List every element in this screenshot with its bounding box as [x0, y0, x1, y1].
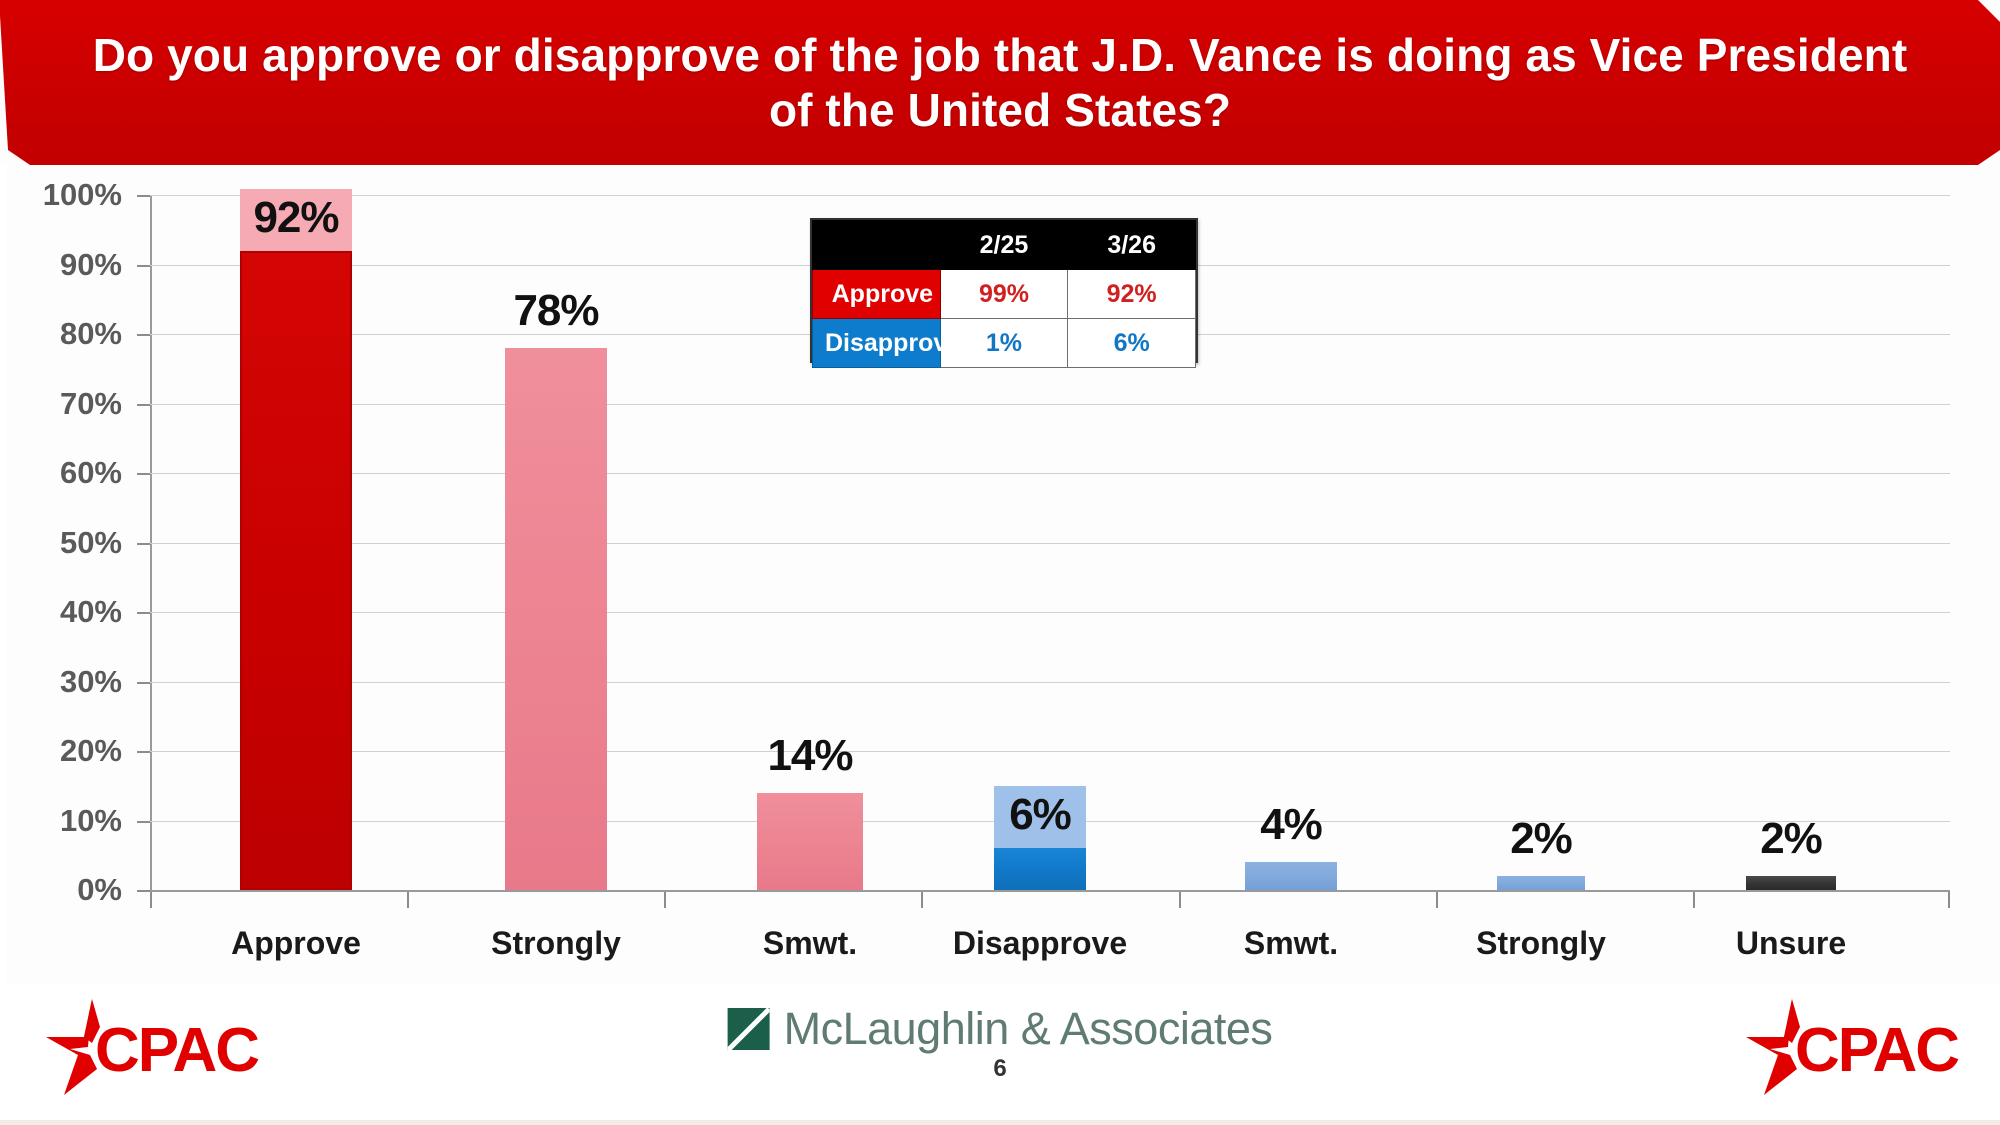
- gridline: [150, 612, 1950, 613]
- y-axis-tick-label: 90%: [60, 247, 122, 283]
- y-axis-tick-label: 10%: [60, 803, 122, 839]
- trend-summary-table: 2/25 3/26 Approve 99% 92% Disapprove 1% …: [810, 218, 1198, 363]
- y-axis-tick-label: 80%: [60, 316, 122, 352]
- gridline: [150, 751, 1950, 752]
- x-axis-tick: [1179, 890, 1181, 908]
- bar-value-label: 92%: [240, 189, 352, 251]
- y-axis-tick: [137, 821, 150, 823]
- gridline: [150, 473, 1950, 474]
- y-axis-tick: [137, 612, 150, 614]
- x-axis-tick: [664, 890, 666, 908]
- bar-disapprove-3: [994, 848, 1086, 890]
- y-axis-tick: [137, 682, 150, 684]
- y-axis-tick-label: 60%: [60, 455, 122, 491]
- mclaughlin-mark-icon: [728, 1008, 770, 1050]
- y-axis-tick: [137, 751, 150, 753]
- table-header-row: 2/25 3/26: [813, 221, 1196, 270]
- table-row-label-disapprove: Disapprove: [813, 319, 941, 368]
- table-col-header-1: 2/25: [940, 221, 1068, 270]
- y-axis-tick-label: 0%: [77, 872, 122, 908]
- bar-value-label: 2%: [1746, 814, 1836, 864]
- cpac-left-label: CPAC: [95, 1015, 258, 1086]
- x-axis-tick: [150, 890, 152, 908]
- y-axis-tick-label: 30%: [60, 664, 122, 700]
- y-axis-tick: [137, 404, 150, 406]
- x-axis-label-3: Disapprove: [953, 925, 1127, 962]
- slide-root: Do you approve or disapprove of the job …: [0, 0, 2000, 1125]
- x-axis-label-2: Smwt.: [763, 925, 857, 962]
- mclaughlin-logo: McLaughlin & Associates: [728, 1003, 1273, 1055]
- y-axis-tick: [137, 473, 150, 475]
- x-axis-tick: [921, 890, 923, 908]
- x-axis-label-5: Strongly: [1476, 925, 1606, 962]
- y-axis-tick: [137, 334, 150, 336]
- gridline: [150, 404, 1950, 405]
- x-axis-line: [150, 890, 1950, 892]
- y-axis-tick: [137, 890, 150, 892]
- title-banner: Do you approve or disapprove of the job …: [0, 0, 2000, 165]
- bar-value-label: 6%: [994, 786, 1086, 848]
- mclaughlin-label: McLaughlin & Associates: [784, 1003, 1273, 1055]
- y-axis-tick-label: 20%: [60, 733, 122, 769]
- table-row: Disapprove 1% 6%: [813, 319, 1196, 368]
- page-number: 6: [993, 1055, 1006, 1083]
- table-cell-disapprove-326: 6%: [1068, 319, 1196, 368]
- gridline: [150, 682, 1950, 683]
- bar-unsure-6: [1746, 876, 1836, 890]
- y-axis-tick: [137, 543, 150, 545]
- x-axis: ApproveStronglySmwt.DisapproveSmwt.Stron…: [150, 890, 1950, 990]
- table-corner-cell: [813, 221, 941, 270]
- bar-value-label: 14%: [757, 731, 863, 781]
- gridline: [150, 195, 1950, 196]
- cpac-logo-right: CPAC: [1740, 995, 1960, 1095]
- x-axis-tick: [1436, 890, 1438, 908]
- x-axis-tick: [1693, 890, 1695, 908]
- bar-strongly-1: [505, 348, 607, 890]
- table-cell-approve-326: 92%: [1068, 270, 1196, 319]
- bar-value-label: 4%: [1245, 800, 1337, 850]
- footer: CPAC McLaughlin & Associates 6 CPAC: [0, 985, 2000, 1125]
- y-axis-labels: 100%90%80%70%60%50%40%30%20%10%0%: [0, 195, 140, 895]
- table-row-label-approve: Approve: [813, 270, 941, 319]
- cpac-right-label: CPAC: [1795, 1015, 1958, 1086]
- bar-smwt-2: [757, 793, 863, 890]
- y-axis-tick-label: 100%: [43, 177, 122, 213]
- gridline: [150, 543, 1950, 544]
- bar-strongly-5: [1497, 876, 1585, 890]
- bar-value-label: 2%: [1497, 814, 1585, 864]
- cpac-logo-left: CPAC: [40, 995, 260, 1095]
- y-axis-tick-label: 50%: [60, 525, 122, 561]
- table-col-header-2: 3/26: [1068, 221, 1196, 270]
- slide-bottom-edge: [0, 1120, 2000, 1125]
- y-axis-tick: [137, 195, 150, 197]
- bar-value-label: 78%: [505, 286, 607, 336]
- x-axis-tick: [407, 890, 409, 908]
- x-axis-tick: [1948, 890, 1950, 908]
- x-axis-label-4: Smwt.: [1244, 925, 1338, 962]
- x-axis-label-6: Unsure: [1736, 925, 1846, 962]
- bar-smwt-4: [1245, 862, 1337, 890]
- y-axis-tick: [137, 265, 150, 267]
- table-row: Approve 99% 92%: [813, 270, 1196, 319]
- y-axis-tick-label: 40%: [60, 594, 122, 630]
- page-title: Do you approve or disapprove of the job …: [70, 28, 1930, 137]
- bar-approve-0: [240, 251, 352, 890]
- x-axis-label-1: Strongly: [491, 925, 621, 962]
- table-cell-approve-225: 99%: [940, 270, 1068, 319]
- y-axis-tick-label: 70%: [60, 386, 122, 422]
- x-axis-label-0: Approve: [231, 925, 361, 962]
